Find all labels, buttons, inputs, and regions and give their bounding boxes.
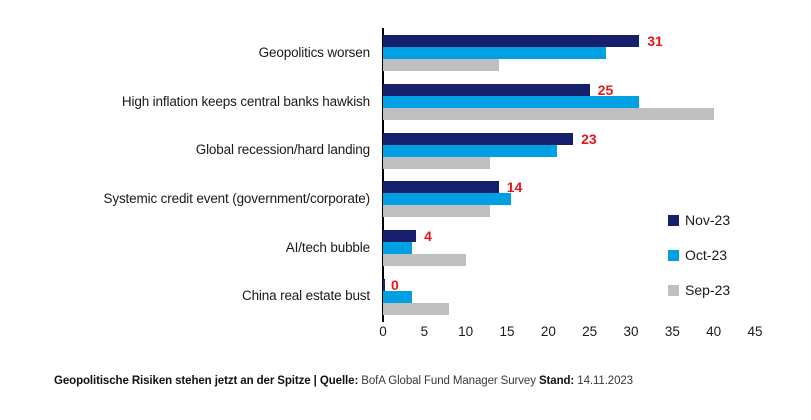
x-axis-tick-label: 35 <box>665 324 680 339</box>
category-label-row: Geopolitics worsen <box>20 29 377 78</box>
legend-swatch-icon <box>668 285 679 296</box>
x-axis-tick-label: 0 <box>379 324 387 339</box>
bar-oct-23 <box>383 145 557 157</box>
bar-value-label: 14 <box>507 180 523 194</box>
chart-legend: Nov-23Oct-23Sep-23 <box>668 212 788 317</box>
bar-value-label: 4 <box>424 229 432 243</box>
legend-label: Nov-23 <box>685 212 730 228</box>
footer-source-label: Quelle: <box>320 375 358 387</box>
bar-sep-23 <box>383 205 490 217</box>
category-label: Systemic credit event (government/corpor… <box>103 192 377 207</box>
category-label: High inflation keeps central banks hawki… <box>122 95 377 110</box>
bar-chart: Geopolitics worsenHigh inflation keeps c… <box>0 0 811 355</box>
legend-swatch-icon <box>668 215 679 226</box>
bar-nov-23 <box>383 181 499 193</box>
bar-oct-23 <box>383 47 606 59</box>
legend-label: Sep-23 <box>685 282 730 298</box>
bar-sep-23 <box>383 108 714 120</box>
x-axis-tick-label: 45 <box>747 324 762 339</box>
category-label-row: AI/tech bubble <box>20 224 377 273</box>
bar-nov-23 <box>383 230 416 242</box>
footer-date-value: 14.11.2023 <box>574 375 633 387</box>
bar-nov-23 <box>383 279 385 291</box>
footer-caption: Geopolitische Risiken stehen jetzt an de… <box>54 375 794 387</box>
category-label-row: High inflation keeps central banks hawki… <box>20 78 377 127</box>
x-axis-tick-label: 25 <box>582 324 597 339</box>
bar-oct-23 <box>383 242 412 254</box>
bar-sep-23 <box>383 59 499 71</box>
legend-item[interactable]: Sep-23 <box>668 282 788 298</box>
legend-label: Oct-23 <box>685 247 727 263</box>
bar-oct-23 <box>383 193 511 205</box>
x-axis-tick-label: 15 <box>499 324 514 339</box>
bar-oct-23 <box>383 291 412 303</box>
x-axis-tick-label: 20 <box>541 324 556 339</box>
bar-value-label: 25 <box>598 83 614 97</box>
bar-sep-23 <box>383 303 449 315</box>
x-axis-tick-label: 5 <box>421 324 429 339</box>
bar-nov-23 <box>383 35 639 47</box>
footer-source-value: BofA Global Fund Manager Survey <box>358 375 539 387</box>
category-label-row: Global recession/hard landing <box>20 126 377 175</box>
category-label: Geopolitics worsen <box>259 46 377 61</box>
footer-separator: | <box>311 375 320 387</box>
category-label: China real estate bust <box>242 289 377 304</box>
x-axis-tick-label: 40 <box>706 324 721 339</box>
x-axis-tick-label: 10 <box>458 324 473 339</box>
legend-item[interactable]: Oct-23 <box>668 247 788 263</box>
bar-sep-23 <box>383 254 466 266</box>
bar-value-label: 0 <box>391 278 399 292</box>
bar-nov-23 <box>383 84 590 96</box>
chart-page: Geopolitics worsenHigh inflation keeps c… <box>0 0 811 420</box>
bar-sep-23 <box>383 157 490 169</box>
footer-date-label: Stand: <box>539 375 574 387</box>
legend-item[interactable]: Nov-23 <box>668 212 788 228</box>
bar-value-label: 23 <box>581 132 597 146</box>
bar-group: 23 <box>383 126 755 175</box>
bar-oct-23 <box>383 96 639 108</box>
category-label-row: Systemic credit event (government/corpor… <box>20 175 377 224</box>
bar-nov-23 <box>383 133 573 145</box>
category-label-row: China real estate bust <box>20 272 377 321</box>
bar-value-label: 31 <box>647 34 663 48</box>
category-label: Global recession/hard landing <box>196 143 377 158</box>
category-axis-labels: Geopolitics worsenHigh inflation keeps c… <box>20 29 377 321</box>
x-axis-tick-label: 30 <box>623 324 638 339</box>
bar-group: 31 <box>383 29 755 78</box>
category-label: AI/tech bubble <box>286 241 377 256</box>
footer-headline: Geopolitische Risiken stehen jetzt an de… <box>54 375 311 387</box>
bar-group: 25 <box>383 78 755 127</box>
value-axis-ticks: 051015202530354045 <box>383 324 755 348</box>
legend-swatch-icon <box>668 250 679 261</box>
